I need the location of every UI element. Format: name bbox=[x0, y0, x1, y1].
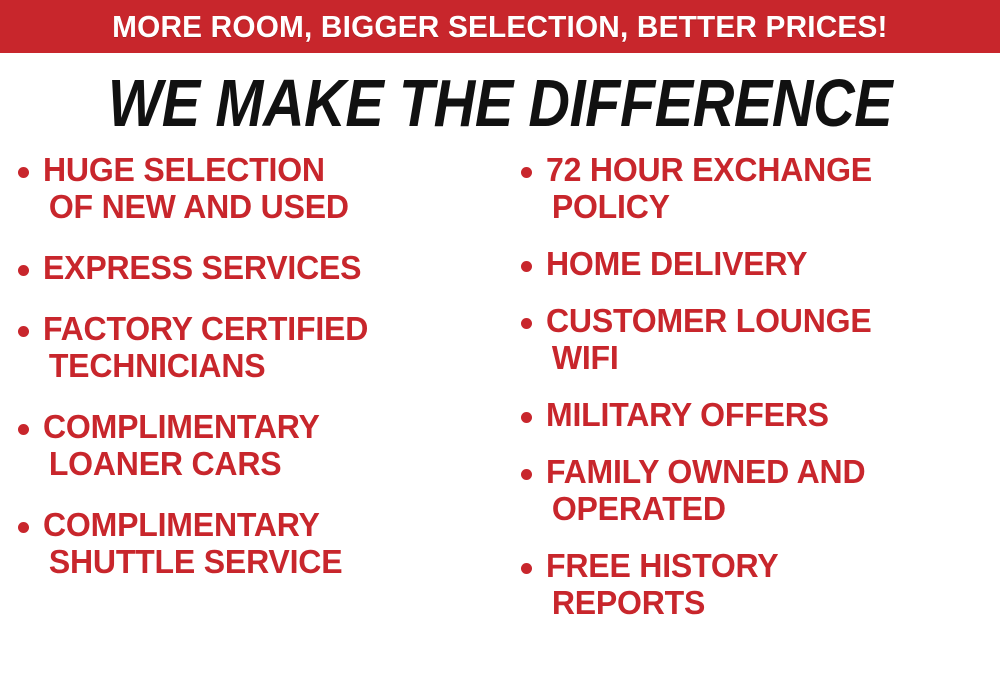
feature-bullet-text: CUSTOMER LOUNGEWIFI bbox=[546, 303, 872, 377]
feature-bullet-item: COMPLIMENTARYSHUTTLE SERVICE bbox=[18, 507, 505, 581]
feature-bullet-line: HUGE SELECTION bbox=[43, 152, 349, 189]
feature-bullet-item: CUSTOMER LOUNGEWIFI bbox=[521, 303, 1000, 377]
feature-bullet-line: EXPRESS SERVICES bbox=[43, 250, 361, 287]
feature-bullet-line: SHUTTLE SERVICE bbox=[43, 544, 342, 581]
top-announcement-strip: MORE ROOM, BIGGER SELECTION, BETTER PRIC… bbox=[0, 0, 1000, 53]
page-title: WE MAKE THE DIFFERENCE bbox=[108, 70, 892, 137]
feature-bullet-line: FREE HISTORY bbox=[546, 548, 778, 585]
headline-container: WE MAKE THE DIFFERENCE bbox=[0, 62, 1000, 144]
feature-bullet-text: HOME DELIVERY bbox=[546, 246, 807, 283]
bullet-dot-icon bbox=[521, 563, 532, 574]
feature-bullet-item: FREE HISTORYREPORTS bbox=[521, 548, 1000, 622]
features-column-right: 72 HOUR EXCHANGEPOLICYHOME DELIVERYCUSTO… bbox=[505, 152, 1000, 694]
feature-bullet-line: FAMILY OWNED AND bbox=[546, 454, 865, 491]
feature-bullet-item: HOME DELIVERY bbox=[521, 246, 1000, 283]
feature-bullet-line: TECHNICIANS bbox=[43, 348, 368, 385]
bullet-dot-icon bbox=[521, 412, 532, 423]
feature-bullet-line: 72 HOUR EXCHANGE bbox=[546, 152, 872, 189]
feature-bullet-item: FAMILY OWNED ANDOPERATED bbox=[521, 454, 1000, 528]
bullet-dot-icon bbox=[18, 167, 29, 178]
feature-bullet-text: EXPRESS SERVICES bbox=[43, 250, 361, 287]
features-columns: HUGE SELECTIONOF NEW AND USEDEXPRESS SER… bbox=[0, 152, 1000, 694]
feature-bullet-line: FACTORY CERTIFIED bbox=[43, 311, 368, 348]
bullet-dot-icon bbox=[18, 265, 29, 276]
feature-bullet-text: COMPLIMENTARYSHUTTLE SERVICE bbox=[43, 507, 342, 581]
feature-bullet-text: COMPLIMENTARYLOANER CARS bbox=[43, 409, 320, 483]
feature-bullet-line: OPERATED bbox=[546, 491, 865, 528]
feature-bullet-line: CUSTOMER LOUNGE bbox=[546, 303, 872, 340]
feature-bullet-line: OF NEW AND USED bbox=[43, 189, 349, 226]
feature-bullet-item: FACTORY CERTIFIEDTECHNICIANS bbox=[18, 311, 505, 385]
feature-bullet-text: FREE HISTORYREPORTS bbox=[546, 548, 778, 622]
feature-bullet-line: COMPLIMENTARY bbox=[43, 409, 320, 446]
bullet-dot-icon bbox=[521, 261, 532, 272]
feature-bullet-line: WIFI bbox=[546, 340, 872, 377]
feature-bullet-item: 72 HOUR EXCHANGEPOLICY bbox=[521, 152, 1000, 226]
top-announcement-text: MORE ROOM, BIGGER SELECTION, BETTER PRIC… bbox=[112, 11, 887, 42]
bullet-dot-icon bbox=[18, 326, 29, 337]
bullet-dot-icon bbox=[521, 469, 532, 480]
bullet-dot-icon bbox=[18, 424, 29, 435]
feature-bullet-line: MILITARY OFFERS bbox=[546, 397, 829, 434]
feature-bullet-text: HUGE SELECTIONOF NEW AND USED bbox=[43, 152, 349, 226]
feature-bullet-line: COMPLIMENTARY bbox=[43, 507, 342, 544]
bullet-dot-icon bbox=[18, 522, 29, 533]
feature-bullet-text: FAMILY OWNED ANDOPERATED bbox=[546, 454, 865, 528]
feature-bullet-line: HOME DELIVERY bbox=[546, 246, 807, 283]
promo-banner: MORE ROOM, BIGGER SELECTION, BETTER PRIC… bbox=[0, 0, 1000, 694]
features-column-left: HUGE SELECTIONOF NEW AND USEDEXPRESS SER… bbox=[0, 152, 505, 694]
feature-bullet-line: POLICY bbox=[546, 189, 872, 226]
bullet-dot-icon bbox=[521, 167, 532, 178]
feature-bullet-item: EXPRESS SERVICES bbox=[18, 250, 505, 287]
feature-bullet-item: HUGE SELECTIONOF NEW AND USED bbox=[18, 152, 505, 226]
feature-bullet-text: FACTORY CERTIFIEDTECHNICIANS bbox=[43, 311, 368, 385]
feature-bullet-item: MILITARY OFFERS bbox=[521, 397, 1000, 434]
feature-bullet-line: LOANER CARS bbox=[43, 446, 320, 483]
bullet-dot-icon bbox=[521, 318, 532, 329]
feature-bullet-text: MILITARY OFFERS bbox=[546, 397, 829, 434]
feature-bullet-item: COMPLIMENTARYLOANER CARS bbox=[18, 409, 505, 483]
feature-bullet-text: 72 HOUR EXCHANGEPOLICY bbox=[546, 152, 872, 226]
feature-bullet-line: REPORTS bbox=[546, 585, 778, 622]
